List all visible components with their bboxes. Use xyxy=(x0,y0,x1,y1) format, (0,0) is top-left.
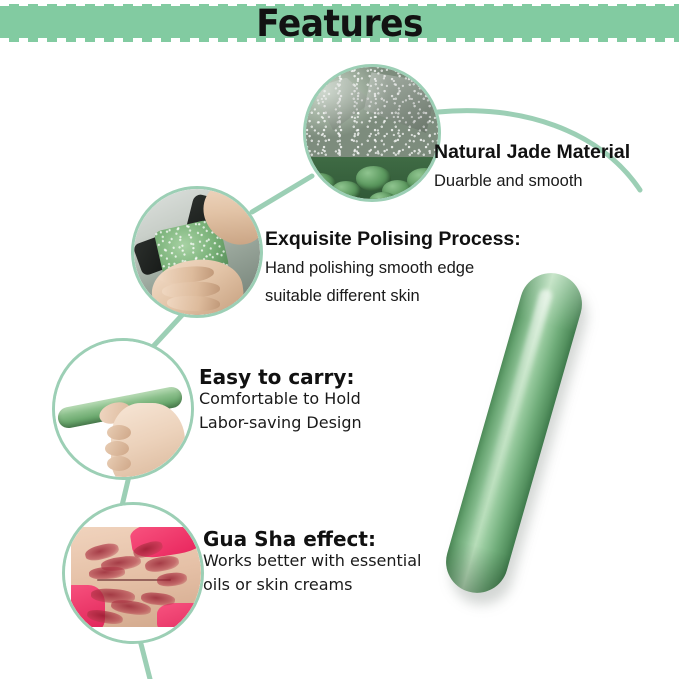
feature-image-easy-to-carry xyxy=(52,338,194,480)
feature-line: Hand polishing smooth edge xyxy=(265,259,521,278)
header-banner: Features xyxy=(0,4,679,42)
connector-2-to-1 xyxy=(252,176,312,212)
feature-line: Works better with essential xyxy=(203,551,422,570)
feature-line: Labor-saving Design xyxy=(199,413,362,432)
banner-notches-top xyxy=(0,0,679,6)
feature-line: Duarble and smooth xyxy=(434,172,630,191)
feature-line: suitable different skin xyxy=(265,287,521,306)
connector-bottom-tail xyxy=(140,640,150,679)
feature-image-exquisite-polishing-process xyxy=(131,186,263,318)
features-infographic: Features xyxy=(0,0,679,679)
feature-text-natural-jade-material: Natural Jade Material Duarble and smooth xyxy=(434,141,630,191)
feature-title: Gua Sha effect: xyxy=(203,528,422,551)
feature-text-gua-sha-effect: Gua Sha effect: Works better with essent… xyxy=(203,528,422,594)
gua-sha-treatment-photo xyxy=(71,527,201,627)
feature-line: oils or skin creams xyxy=(203,575,422,594)
feature-title: Exquisite Polising Process: xyxy=(265,228,521,250)
product-image-jade-massage-stick xyxy=(439,266,590,600)
feature-text-easy-to-carry: Easy to carry: Comfortable to Hold Labor… xyxy=(199,366,362,432)
feature-line: Comfortable to Hold xyxy=(199,389,362,408)
feature-image-gua-sha-effect xyxy=(62,502,204,644)
feature-text-exquisite-polishing-process: Exquisite Polising Process: Hand polishi… xyxy=(265,228,521,306)
page-title: Features xyxy=(256,5,423,42)
polished-jade-pebbles xyxy=(306,157,438,199)
feature-title: Easy to carry: xyxy=(199,366,362,389)
banner-notches-bottom xyxy=(0,38,679,44)
feature-image-natural-jade-material xyxy=(303,64,441,202)
feature-title: Natural Jade Material xyxy=(434,141,630,163)
